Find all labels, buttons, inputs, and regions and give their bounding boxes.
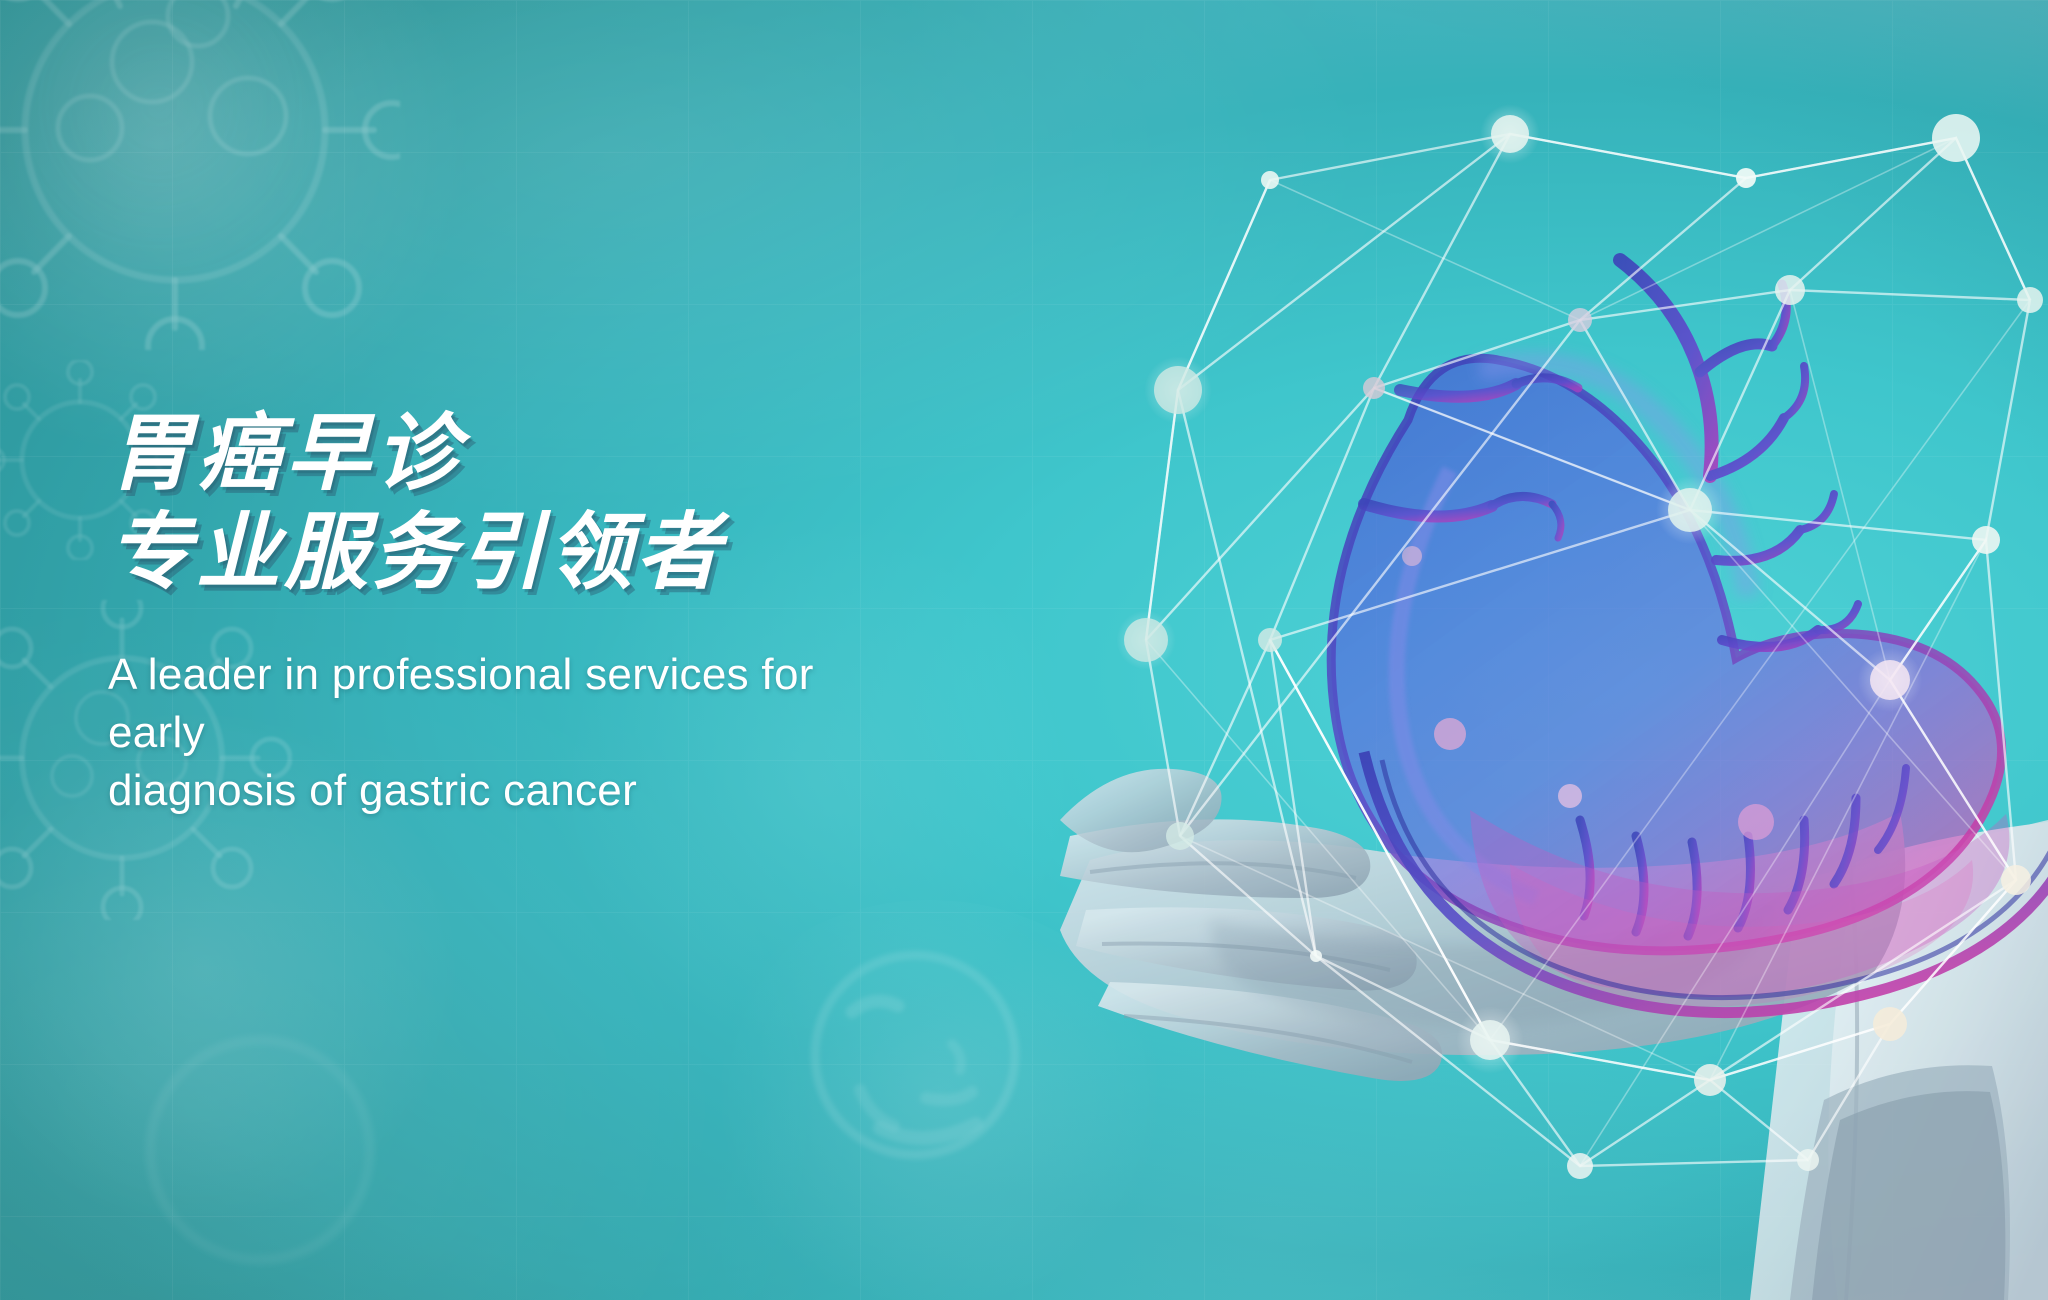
hero-copy: 胃癌早诊 专业服务引领者 A leader in professional se…: [108, 404, 1108, 820]
headline-line-2: 专业服务引领者: [108, 503, 1108, 602]
subtitle-line-2: diagnosis of gastric cancer: [108, 762, 898, 820]
hero-banner: 胃癌早诊 专业服务引领者 A leader in professional se…: [0, 0, 2048, 1300]
headline: 胃癌早诊 专业服务引领者: [108, 404, 1108, 602]
headline-line-1: 胃癌早诊: [108, 404, 1108, 503]
subtitle-line-1: A leader in professional services for ea…: [108, 646, 898, 762]
subtitle: A leader in professional services for ea…: [108, 646, 898, 820]
